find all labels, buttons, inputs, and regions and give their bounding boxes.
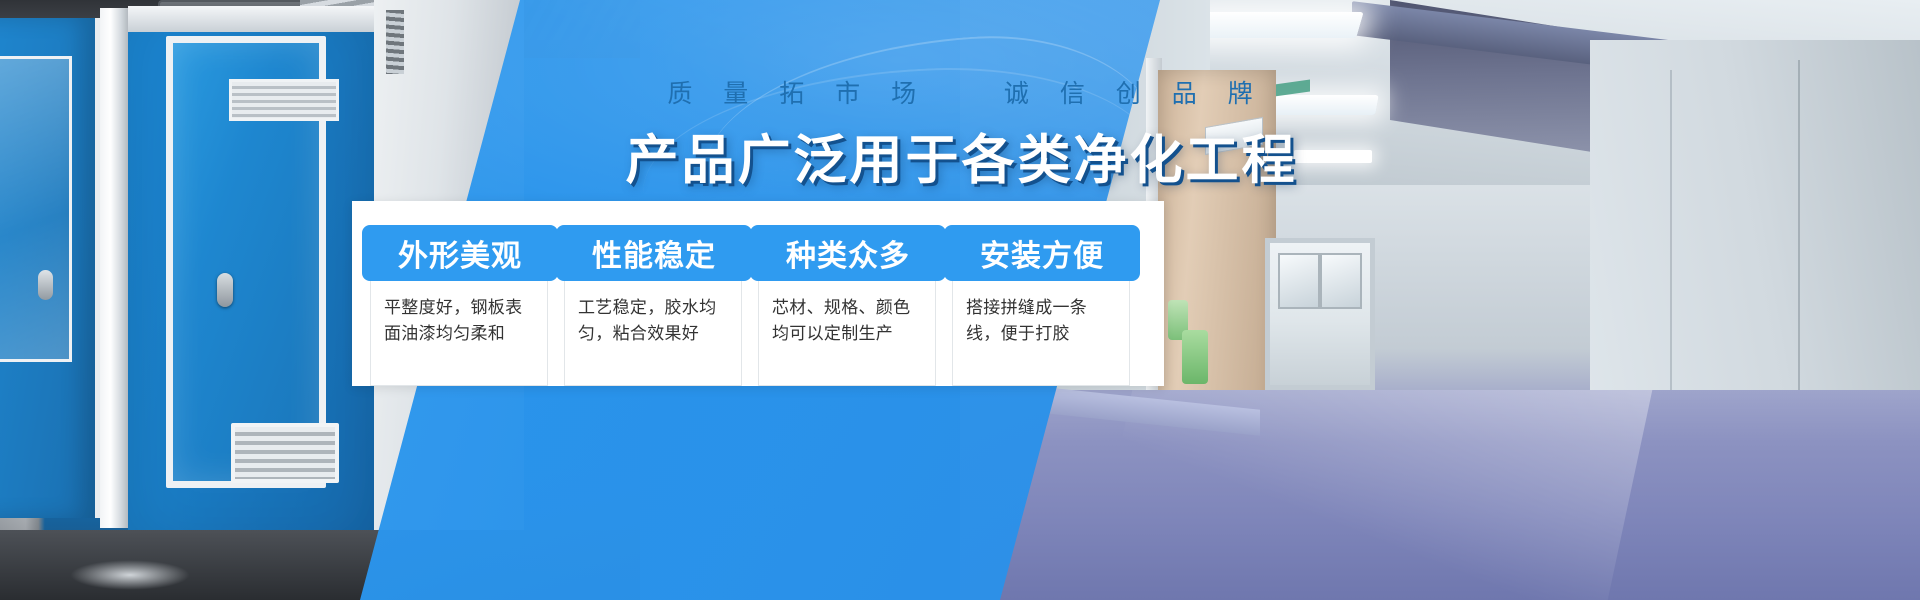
feature-cards-panel: 外形美观 平整度好，钢板表面油漆均匀柔和 性能稳定 工艺稳定，胶水均匀，粘合效果… xyxy=(352,201,1164,386)
feature-card[interactable]: 安装方便 搭接拼缝成一条线，便于打胶 xyxy=(952,226,1130,386)
door-louver-icon xyxy=(231,423,339,483)
banner-headline: 产品广泛用于各类净化工程 xyxy=(0,118,1920,194)
corridor-floor xyxy=(960,390,1920,600)
banner-stage: 质 量 拓 市 场 诚 信 创 品 牌 产品广泛用于各类净化工程 外形美观 平整… xyxy=(0,0,1920,600)
cabin-top-trim xyxy=(128,6,374,32)
feature-card-body: 芯材、规格、颜色均可以定制生产 xyxy=(759,281,935,348)
feature-card[interactable]: 外形美观 平整度好，钢板表面油漆均匀柔和 xyxy=(370,226,548,386)
feature-card-title: 种类众多 xyxy=(750,225,946,281)
banner-subtitle: 质 量 拓 市 场 诚 信 创 品 牌 xyxy=(0,74,1920,110)
feature-card-title: 性能稳定 xyxy=(556,225,752,281)
feature-card-body: 工艺稳定，胶水均匀，粘合效果好 xyxy=(565,281,741,348)
feature-card-body: 平整度好，钢板表面油漆均匀柔和 xyxy=(371,281,547,348)
feature-card-title: 外形美观 xyxy=(362,225,558,281)
feature-card-title: 安装方便 xyxy=(944,225,1140,281)
corridor-end-double-door xyxy=(1265,238,1375,390)
ceiling-light-icon xyxy=(1186,12,1363,38)
feature-card[interactable]: 性能稳定 工艺稳定，胶水均匀，粘合效果好 xyxy=(564,226,742,386)
feature-card-body: 搭接拼缝成一条线，便于打胶 xyxy=(953,281,1129,348)
cabin-handle-icon xyxy=(38,270,53,300)
feature-card[interactable]: 种类众多 芯材、规格、颜色均可以定制生产 xyxy=(758,226,936,386)
plant-decoration-icon xyxy=(1182,330,1208,384)
door-handle-icon xyxy=(217,273,233,307)
